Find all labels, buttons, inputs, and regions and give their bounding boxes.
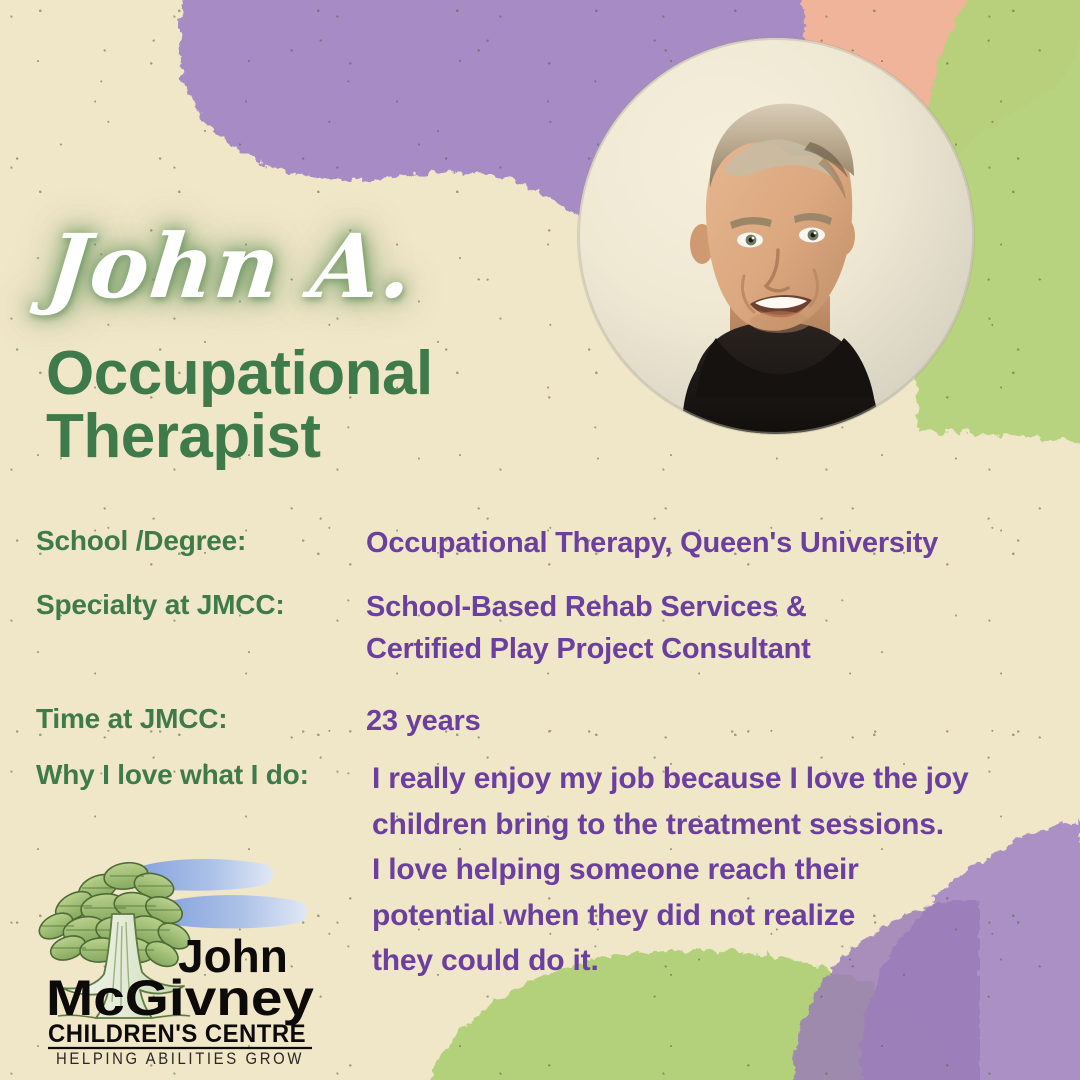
detail-label-time: Time at JMCC: (36, 700, 366, 738)
detail-value-line: they could do it. (372, 938, 968, 984)
page-title: Occupational Therapist (46, 342, 433, 468)
logo-line-childrens-centre: CHILDREN'S CENTRE (48, 1020, 306, 1048)
role-line-2: Therapist (46, 405, 433, 468)
detail-value-line: children bring to the treatment sessions… (372, 802, 968, 848)
detail-value-line: School-Based Rehab Services & (366, 586, 811, 628)
logo-line-mcgivney: McGivney (46, 970, 314, 1026)
role-line-1: Occupational (46, 342, 433, 405)
detail-value-line: Occupational Therapy, Queen's University (366, 522, 938, 564)
detail-value-line: 23 years (366, 700, 481, 742)
detail-value-line: Certified Play Project Consultant (366, 628, 811, 670)
detail-row-school: School /Degree: Occupational Therapy, Qu… (36, 522, 1046, 564)
avatar (578, 38, 974, 434)
detail-value-why: I really enjoy my job because I love the… (372, 756, 968, 984)
logo-tagline: HELPING ABILITIES GROW (56, 1049, 304, 1066)
detail-value-time: 23 years (366, 700, 481, 742)
detail-label-why: Why I love what I do: (36, 756, 372, 794)
detail-label-specialty: Specialty at JMCC: (36, 586, 366, 624)
detail-value-line: I love helping someone reach their (372, 847, 968, 893)
profile-card: John A. Occupational Therapist School /D… (0, 0, 1080, 1080)
detail-row-time: Time at JMCC: 23 years (36, 700, 1046, 742)
detail-value-line: I really enjoy my job because I love the… (372, 756, 968, 802)
detail-value-line: potential when they did not realize (372, 893, 968, 939)
organization-logo: John McGivney CHILDREN'S CENTRE HELPING … (26, 852, 332, 1066)
detail-label-school: School /Degree: (36, 522, 366, 560)
portrait-photo-illustration (578, 38, 974, 434)
detail-value-school: Occupational Therapy, Queen's University (366, 522, 938, 564)
staff-name: John A. (43, 222, 417, 310)
detail-row-specialty: Specialty at JMCC: School-Based Rehab Se… (36, 586, 1046, 670)
detail-value-specialty: School-Based Rehab Services & Certified … (366, 586, 811, 670)
